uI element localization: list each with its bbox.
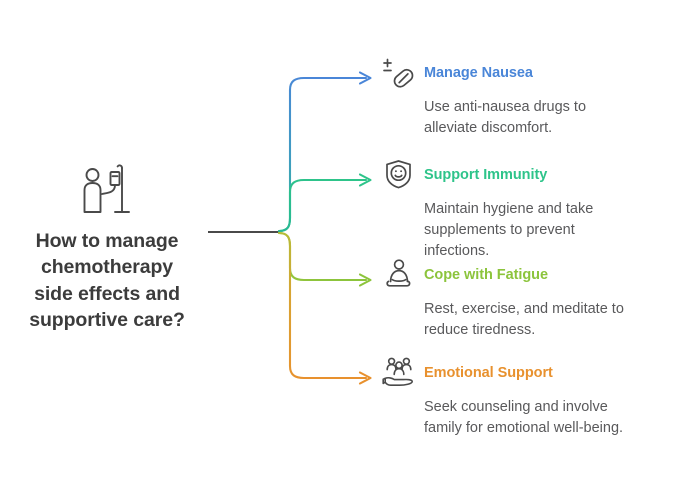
connector-manage-nausea (279, 73, 371, 232)
branch-description-line-1: Use anti-nausea drugs to (424, 97, 662, 118)
central-title-line-4: supportive care? (8, 307, 206, 333)
branch-cope-with-fatigue[interactable]: Cope with Fatigue Rest, exercise, and me… (382, 264, 682, 341)
page-title: How to manage chemotherapy side effects … (8, 228, 206, 333)
shield-smiley-face-icon (382, 158, 416, 190)
branch-description-line-1: Seek counseling and involve (424, 397, 662, 418)
branch-support-immunity[interactable]: Support Immunity Maintain hygiene and ta… (382, 164, 682, 262)
branch-header: Cope with Fatigue (382, 264, 682, 294)
pill-capsule-plus-minus-icon (382, 56, 416, 88)
iv-drip-patient-icon (78, 162, 136, 218)
branch-manage-nausea[interactable]: Manage Nausea Use anti-nausea drugs to a… (382, 62, 682, 139)
branch-emotional-support[interactable]: Emotional Support Seek counseling and in… (382, 362, 682, 439)
branch-description-line-3: infections. (424, 241, 662, 262)
branch-description-line-2: reduce tiredness. (424, 320, 662, 341)
branch-title: Emotional Support (424, 362, 553, 382)
central-icon-wrapper (8, 160, 206, 218)
branch-title: Cope with Fatigue (424, 264, 548, 284)
branch-header: Support Immunity (382, 164, 682, 194)
branch-description-line-1: Rest, exercise, and meditate to (424, 299, 662, 320)
central-node: How to manage chemotherapy side effects … (8, 160, 206, 333)
branch-header: Manage Nausea (382, 62, 682, 92)
branch-description: Use anti-nausea drugs to alleviate disco… (424, 97, 662, 139)
meditating-person-icon (382, 258, 416, 290)
central-title-line-2: chemotherapy (8, 254, 206, 280)
branch-description-line-2: alleviate discomfort. (424, 118, 662, 139)
connector-emotional-support (279, 233, 371, 384)
connector-support-immunity (279, 175, 371, 232)
central-title-line-3: side effects and (8, 281, 206, 307)
central-title-line-1: How to manage (8, 228, 206, 254)
branch-description: Seek counseling and involve family for e… (424, 397, 662, 439)
connector-cope-with-fatigue (279, 233, 371, 286)
diagram-canvas: How to manage chemotherapy side effects … (0, 0, 700, 500)
branch-title: Manage Nausea (424, 62, 533, 82)
branch-header: Emotional Support (382, 362, 682, 392)
branch-description-line-1: Maintain hygiene and take (424, 199, 662, 220)
branch-description-line-2: family for emotional well-being. (424, 418, 662, 439)
hand-holding-people-icon (382, 356, 416, 388)
branch-description: Maintain hygiene and take supplements to… (424, 199, 662, 262)
branch-description-line-2: supplements to prevent (424, 220, 662, 241)
branch-description: Rest, exercise, and meditate to reduce t… (424, 299, 662, 341)
branch-title: Support Immunity (424, 164, 547, 184)
